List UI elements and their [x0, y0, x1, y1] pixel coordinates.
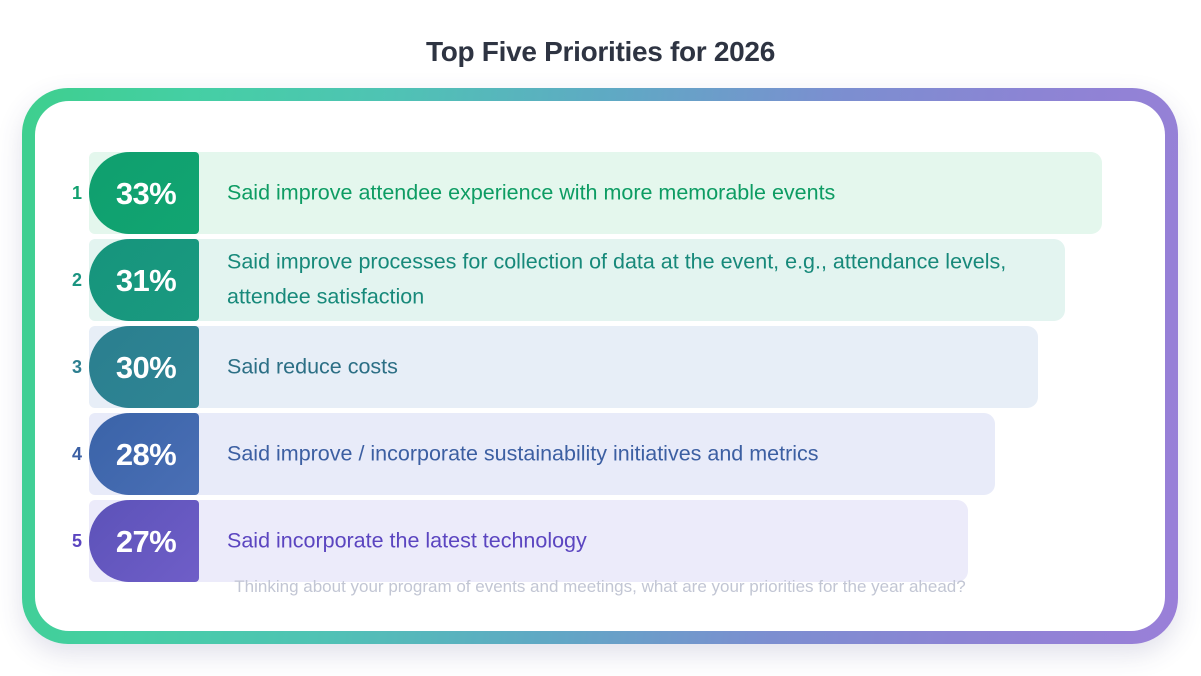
rank-number: 4: [68, 445, 86, 463]
priority-list: 133%Said improve attendee experience wit…: [35, 152, 1165, 587]
percentage-value: 28%: [112, 439, 176, 470]
rank-number: 1: [68, 184, 86, 202]
percentage-value: 33%: [112, 178, 176, 209]
percentage-pill: 28%: [89, 413, 199, 495]
priority-row: 231%Said improve processes for collectio…: [35, 239, 1165, 321]
card-body: 133%Said improve attendee experience wit…: [35, 101, 1165, 631]
percentage-pill: 31%: [89, 239, 199, 321]
priority-row: 133%Said improve attendee experience wit…: [35, 152, 1165, 234]
percentage-value: 30%: [112, 352, 176, 383]
percentage-pill: 27%: [89, 500, 199, 582]
priority-row: 527%Said incorporate the latest technolo…: [35, 500, 1165, 582]
priority-label: Said improve attendee experience with mo…: [227, 175, 1057, 210]
priority-label: Said improve / incorporate sustainabilit…: [227, 436, 1057, 471]
rank-number: 5: [68, 532, 86, 550]
priority-label: Said reduce costs: [227, 349, 1057, 384]
percentage-pill: 30%: [89, 326, 199, 408]
rank-number: 3: [68, 358, 86, 376]
percentage-pill: 33%: [89, 152, 199, 234]
priority-row: 330%Said reduce costs: [35, 326, 1165, 408]
priority-label: Said incorporate the latest technology: [227, 523, 1057, 558]
page-title: Top Five Priorities for 2026: [0, 36, 1201, 68]
rank-number: 2: [68, 271, 86, 289]
gradient-border-card: 133%Said improve attendee experience wit…: [22, 88, 1178, 644]
infographic-root: Top Five Priorities for 2026 133%Said im…: [0, 0, 1201, 676]
percentage-value: 27%: [112, 526, 176, 557]
survey-question-footnote: Thinking about your program of events an…: [35, 577, 1165, 597]
priority-row: 428%Said improve / incorporate sustainab…: [35, 413, 1165, 495]
priority-label: Said improve processes for collection of…: [227, 245, 1057, 316]
percentage-value: 31%: [112, 265, 176, 296]
